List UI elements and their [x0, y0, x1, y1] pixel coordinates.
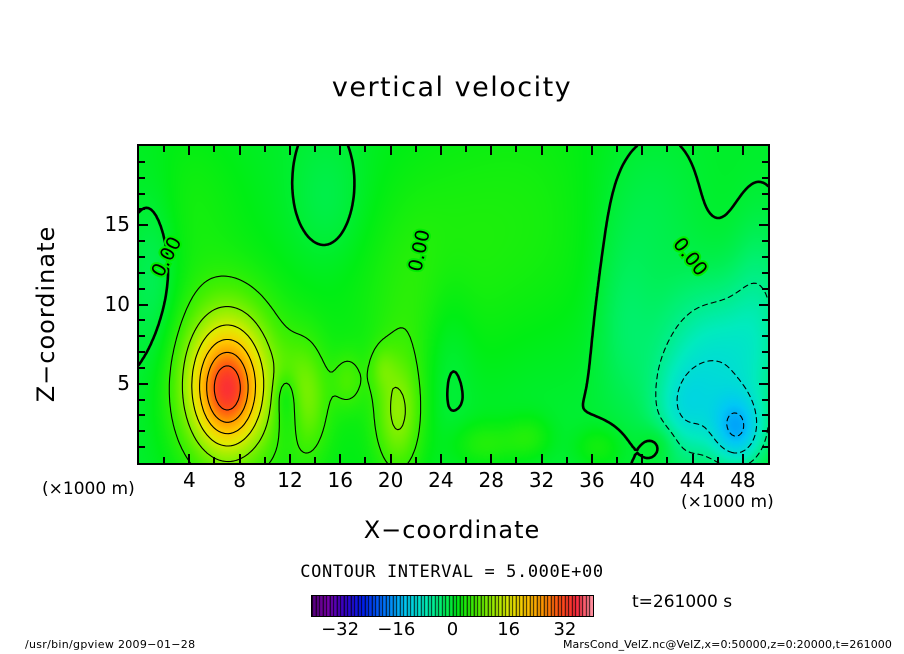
y-axis-tick [139, 446, 145, 448]
x-tick-label: 48 [713, 468, 773, 492]
time-label: t=261000 s [632, 592, 732, 612]
y-axis-tick [139, 272, 145, 274]
y-tick-label: 15 [84, 212, 130, 236]
x-axis-tick-top [742, 146, 744, 155]
x-axis-tick [188, 454, 190, 463]
y-axis-tick-right [762, 161, 768, 163]
x-axis-tick [440, 454, 442, 463]
contour-lines-overlay: 0.000.000.00 [139, 146, 768, 463]
y-axis-tick-right [762, 193, 768, 195]
positive-contour-line [207, 352, 248, 422]
zero-contour-line [139, 208, 168, 365]
positive-contour-line [214, 366, 240, 410]
y-axis-tick-right [762, 414, 768, 416]
x-axis-tick [415, 457, 417, 463]
x-axis-tick [666, 457, 668, 463]
x-axis-tick [692, 454, 694, 463]
y-axis-tick [139, 304, 148, 306]
y-axis-tick-right [762, 208, 768, 210]
contour-label-group: 0.00 [404, 226, 435, 276]
positive-contour-line [391, 387, 406, 429]
x-axis-tick-top [566, 146, 568, 152]
x-axis-tick-top [213, 146, 215, 152]
x-axis-tick-top [440, 146, 442, 155]
y-axis-tick-right [759, 383, 768, 385]
x-axis-tick-top [239, 146, 241, 155]
footer-command-text: /usr/bin/gpview 2009−01−28 [25, 638, 195, 651]
x-axis-tick [566, 457, 568, 463]
x-axis-tick [289, 454, 291, 463]
x-axis-tick [515, 457, 517, 463]
y-axis-tick [139, 288, 145, 290]
contour-label-group: 0.00 [146, 231, 187, 282]
z-axis-unit-label: (×1000 m) [42, 479, 135, 499]
y-axis-tick-right [762, 256, 768, 258]
x-axis-tick-top [314, 146, 316, 152]
colorbar-tick-label: 0 [426, 619, 480, 640]
y-axis-tick-right [759, 224, 768, 226]
negative-contour-line [677, 361, 757, 453]
negative-contour-line [750, 427, 769, 463]
positive-contour-line [192, 325, 264, 446]
x-axis-tick-top [515, 146, 517, 152]
x-axis-tick-top [264, 146, 266, 152]
footer-dataset-text: MarsCond_VelZ.nc@VelZ,x=0:50000,z=0:2000… [563, 638, 892, 651]
y-axis-tick [139, 351, 145, 353]
y-axis-tick-right [762, 430, 768, 432]
x-axis-tick-top [541, 146, 543, 155]
negative-contour-line [727, 413, 744, 436]
colorbar-tick-label: 16 [482, 619, 536, 640]
contour-value-label: 0.00 [404, 228, 434, 274]
colorbar [311, 595, 594, 617]
contour-value-label: 0.00 [147, 233, 186, 281]
x-axis-tick-top [641, 146, 643, 155]
y-axis-tick [139, 177, 145, 179]
y-axis-tick-right [762, 272, 768, 274]
x-axis-tick [163, 457, 165, 463]
x-axis-tick-top [188, 146, 190, 155]
x-axis-tick [213, 457, 215, 463]
positive-contour-line [182, 307, 274, 462]
y-axis-label: Z−coordinate [32, 204, 60, 424]
x-axis-tick-top [364, 146, 366, 152]
zero-contour-line [583, 146, 657, 463]
x-axis-tick [239, 454, 241, 463]
positive-contour-line [367, 328, 420, 463]
contour-value-label: 0.00 [668, 233, 711, 280]
y-axis-tick-right [762, 288, 768, 290]
y-axis-tick-right [762, 335, 768, 337]
x-axis-tick-top [717, 146, 719, 152]
y-axis-tick [139, 256, 145, 258]
x-axis-tick-top [490, 146, 492, 155]
x-axis-tick [390, 454, 392, 463]
x-axis-tick [364, 457, 366, 463]
y-axis-tick-right [762, 319, 768, 321]
y-axis-tick [139, 161, 145, 163]
x-axis-unit-label: (×1000 m) [681, 492, 774, 512]
y-axis-tick [139, 414, 145, 416]
x-axis-tick [742, 454, 744, 463]
y-axis-tick [139, 208, 145, 210]
x-axis-tick [314, 457, 316, 463]
x-axis-tick [616, 457, 618, 463]
y-axis-tick [139, 319, 145, 321]
x-axis-tick [339, 454, 341, 463]
contour-label-group: 0.00 [667, 232, 713, 282]
y-axis-tick-right [762, 446, 768, 448]
y-axis-tick-right [762, 177, 768, 179]
y-axis-tick [139, 240, 145, 242]
x-axis-tick [591, 454, 593, 463]
y-tick-label: 10 [84, 292, 130, 316]
zero-contour-line [680, 146, 768, 218]
x-axis-tick-top [289, 146, 291, 155]
colorbar-tick-label: 32 [538, 619, 592, 640]
y-axis-tick-right [759, 304, 768, 306]
y-axis-tick-right [762, 240, 768, 242]
y-axis-tick-right [762, 367, 768, 369]
positive-contour-line [200, 340, 256, 434]
x-axis-tick [641, 454, 643, 463]
page-title: vertical velocity [0, 72, 904, 103]
y-axis-tick [139, 335, 145, 337]
y-tick-label: 5 [84, 371, 130, 395]
x-axis-tick-top [616, 146, 618, 152]
y-axis-tick [139, 399, 145, 401]
x-axis-tick [541, 454, 543, 463]
x-axis-tick-top [163, 146, 165, 152]
y-axis-tick [139, 430, 145, 432]
x-axis-tick [264, 457, 266, 463]
x-axis-tick-top [666, 146, 668, 152]
x-axis-tick-top [415, 146, 417, 152]
y-axis-tick [139, 383, 148, 385]
x-axis-tick-top [339, 146, 341, 155]
x-axis-tick [717, 457, 719, 463]
colorbar-tick-label: −16 [369, 619, 423, 640]
x-axis-tick-top [465, 146, 467, 152]
colorbar-gradient [312, 596, 593, 616]
x-axis-tick [465, 457, 467, 463]
contour-plot-area: 0.000.000.00 [137, 144, 770, 465]
x-axis-tick-top [692, 146, 694, 155]
x-axis-label: X−coordinate [0, 516, 904, 544]
y-axis-tick-right [762, 399, 768, 401]
x-axis-tick-top [390, 146, 392, 155]
x-axis-tick [490, 454, 492, 463]
y-axis-tick [139, 224, 148, 226]
y-axis-tick-right [762, 351, 768, 353]
zero-contour-line [292, 146, 354, 245]
contour-interval-text: CONTOUR INTERVAL = 5.000E+00 [0, 562, 904, 582]
x-axis-tick-top [591, 146, 593, 155]
positive-contour-line [169, 276, 361, 463]
y-axis-tick [139, 193, 145, 195]
y-axis-tick [139, 367, 145, 369]
zero-contour-line [447, 371, 462, 410]
colorbar-tick-label: −32 [313, 619, 367, 640]
